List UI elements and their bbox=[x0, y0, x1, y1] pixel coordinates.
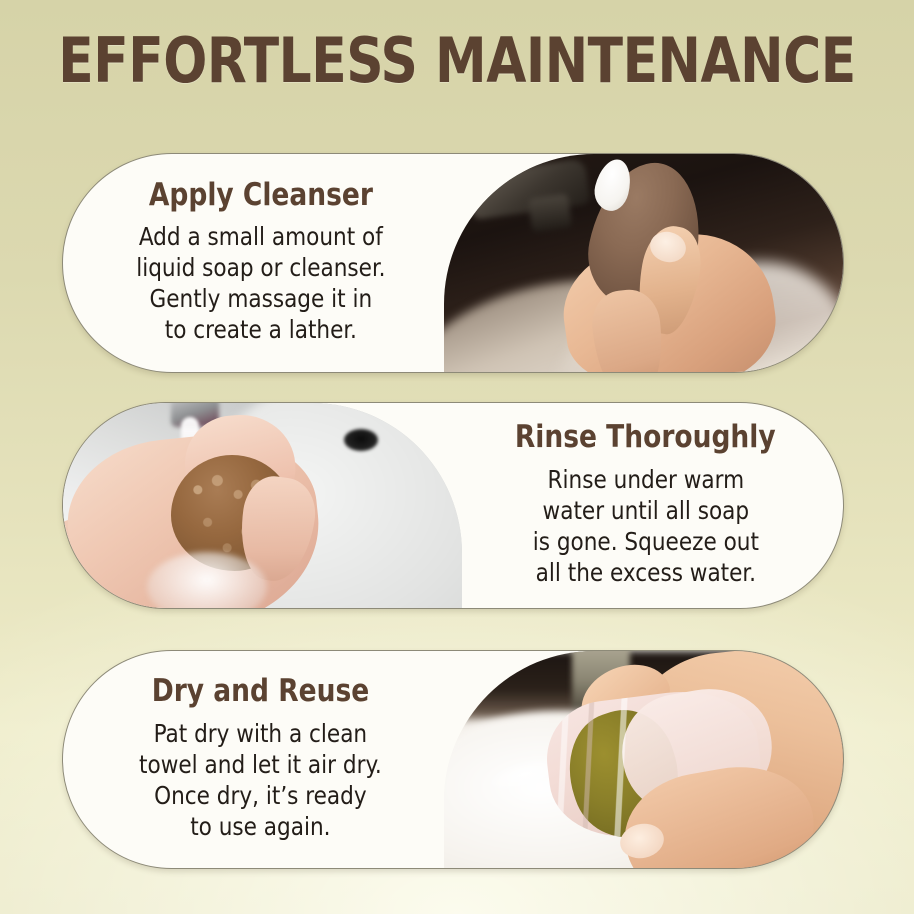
step-card-3-text: Dry and Reuse Pat dry with a clean towel… bbox=[63, 651, 444, 868]
step-card-3-heading: Dry and Reuse bbox=[152, 675, 369, 708]
page-title: EFFORTLESS MAINTENANCE bbox=[32, 24, 882, 97]
sink-drain-icon bbox=[344, 429, 378, 451]
step-card-1-heading: Apply Cleanser bbox=[148, 179, 372, 212]
hand-patting-green-sponge-with-tissue-image bbox=[444, 651, 843, 868]
step-card-2: Rinse Thoroughly Rinse under warm water … bbox=[62, 402, 844, 609]
step-card-2-text: Rinse Thoroughly Rinse under warm water … bbox=[462, 403, 843, 608]
page-header: EFFORTLESS MAINTENANCE bbox=[0, 24, 914, 97]
step-card-2-body: Rinse under warm water until all soap is… bbox=[532, 464, 758, 588]
step-card-1-text: Apply Cleanser Add a small amount of liq… bbox=[63, 154, 444, 372]
step-card-1-body: Add a small amount of liquid soap or cle… bbox=[136, 221, 385, 345]
hand-holding-brown-sponge-with-foam-image bbox=[444, 154, 843, 372]
step-card-3: Dry and Reuse Pat dry with a clean towel… bbox=[62, 650, 844, 869]
step-card-2-heading: Rinse Thoroughly bbox=[515, 421, 776, 454]
faucet-spout-icon bbox=[528, 193, 572, 232]
step-card-1: Apply Cleanser Add a small amount of liq… bbox=[62, 153, 844, 373]
hand-rinsing-sponge-under-faucet-image bbox=[63, 403, 462, 608]
step-card-3-body: Pat dry with a clean towel and let it ai… bbox=[139, 718, 382, 842]
